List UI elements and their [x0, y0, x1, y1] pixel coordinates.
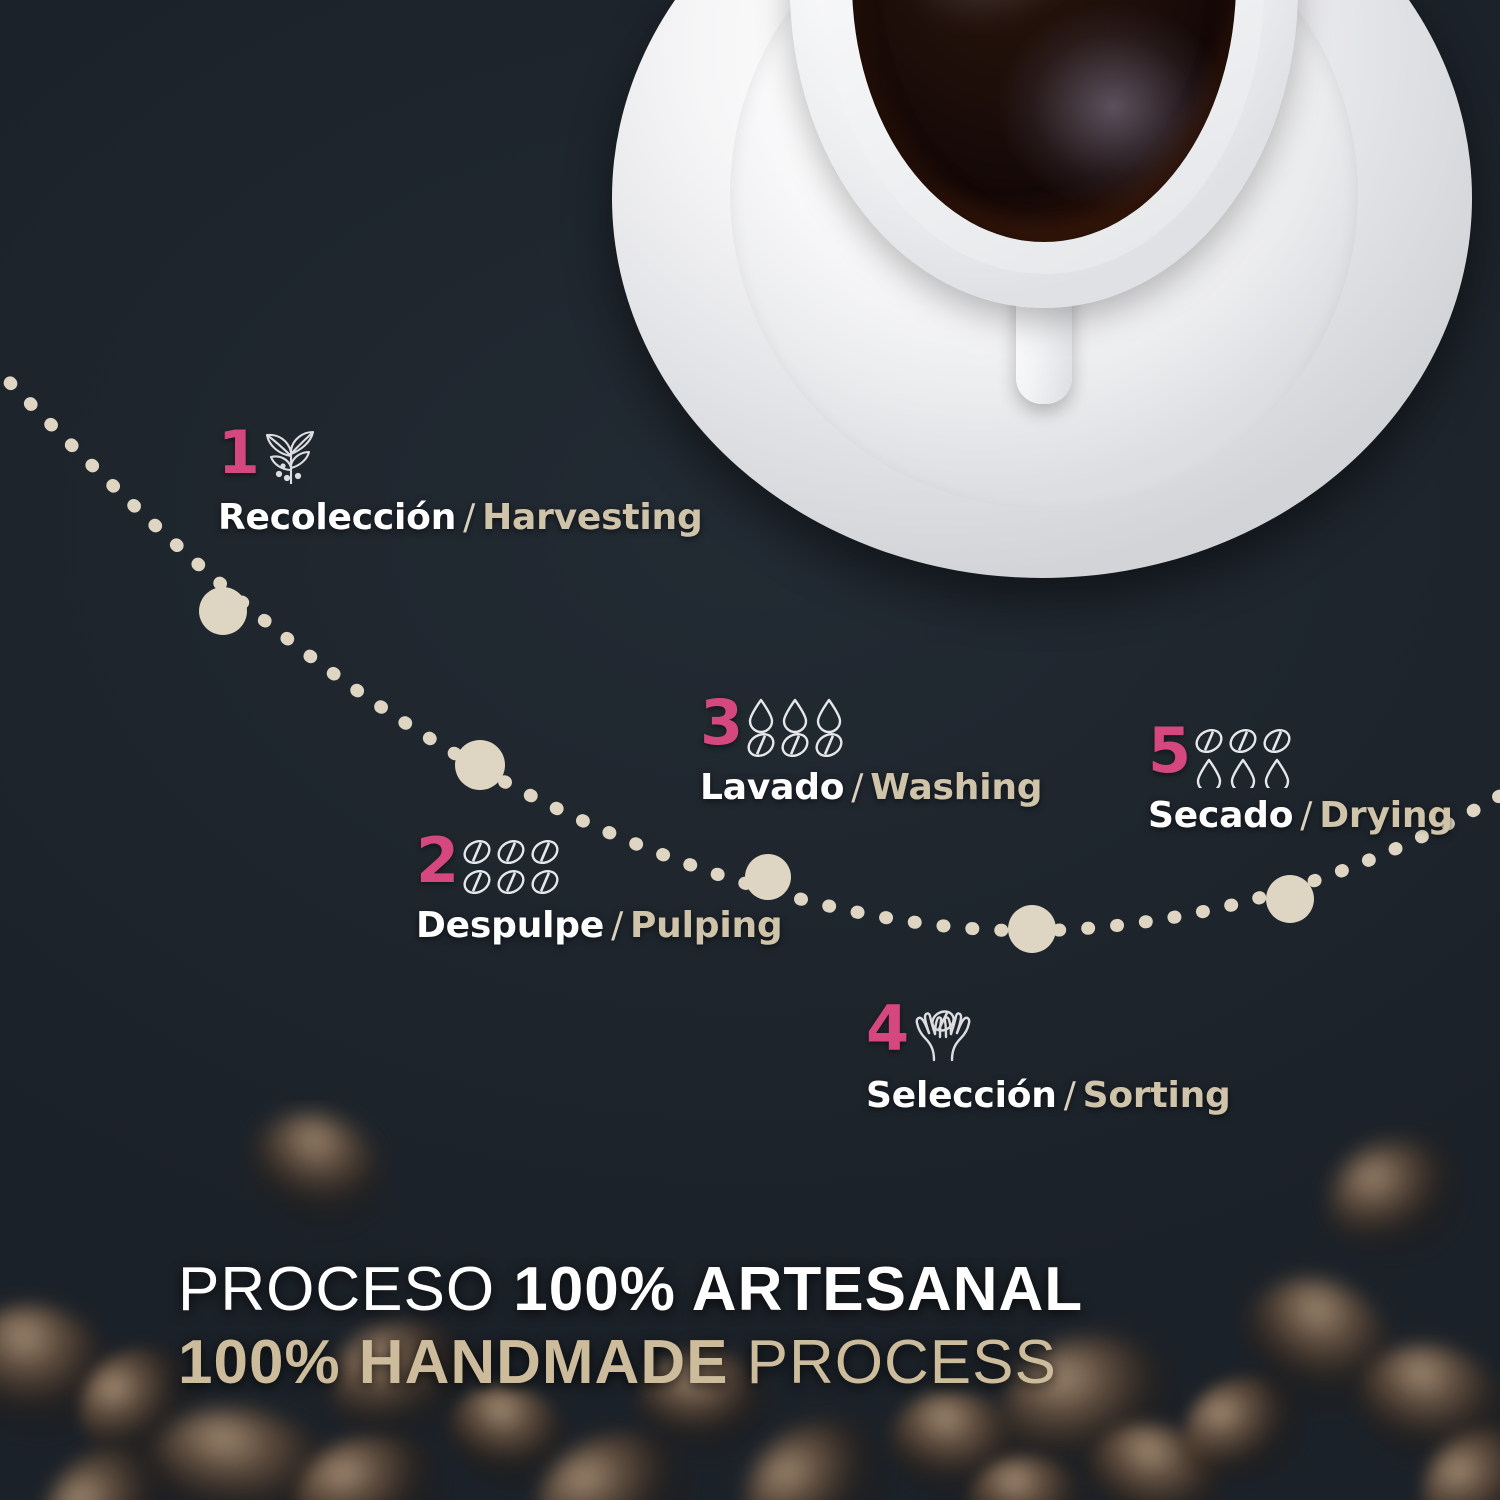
- step-1-separator: /: [463, 497, 475, 538]
- step-1-header: 1: [218, 426, 703, 495]
- process-step-3[interactable]: 3: [700, 694, 1042, 808]
- step-1-label: Recolección/Harvesting: [218, 497, 703, 538]
- process-step-1[interactable]: 1: [218, 426, 703, 538]
- step-5-header: 5: [1148, 722, 1453, 793]
- step-2-label-es: Despulpe: [416, 905, 604, 946]
- headline-process: PROCESS: [747, 1328, 1057, 1397]
- step-1-label-es: Recolección: [218, 497, 456, 538]
- beans-drying-drops-icon: [1192, 726, 1294, 793]
- headline-artesanal: 100% ARTESANAL: [513, 1255, 1083, 1324]
- step-2-label: Despulpe/Pulping: [416, 905, 782, 946]
- step-2-label-en: Pulping: [630, 905, 782, 946]
- step-3-separator: /: [851, 767, 863, 808]
- step-2-number: 2: [416, 832, 458, 889]
- step-2-separator: /: [611, 905, 623, 946]
- step-5-label: Secado/Drying: [1148, 795, 1453, 836]
- hands-holding-bean-icon: [910, 1004, 976, 1073]
- coffee-beans-icon: [460, 836, 562, 903]
- headline-line-english: 100% HANDMADE PROCESS: [178, 1331, 1358, 1394]
- step-4-header: 4: [866, 1000, 1231, 1073]
- process-step-2[interactable]: 2: [416, 832, 782, 946]
- process-step-4[interactable]: 4 Selección/Sorting: [866, 1000, 1231, 1116]
- step-5-label-en: Drying: [1319, 795, 1453, 836]
- step-1-number: 1: [218, 426, 259, 481]
- step-1-label-en: Harvesting: [482, 497, 702, 538]
- step-4-label: Selección/Sorting: [866, 1075, 1231, 1116]
- step-2-header: 2: [416, 832, 782, 903]
- step-3-header: 3: [700, 694, 1042, 765]
- headline-handmade: 100% HANDMADE: [178, 1328, 747, 1397]
- step-5-number: 5: [1148, 722, 1190, 779]
- path-node-1: [199, 587, 247, 635]
- headline-block: PROCESO 100% ARTESANAL 100% HANDMADE PRO…: [178, 1258, 1358, 1394]
- headline-proceso: PROCESO: [178, 1255, 513, 1324]
- step-3-label: Lavado/Washing: [700, 767, 1042, 808]
- path-node-5: [1266, 875, 1314, 923]
- step-5-label-es: Secado: [1148, 795, 1293, 836]
- step-4-number: 4: [866, 1000, 908, 1057]
- path-node-2: [455, 740, 505, 790]
- step-3-number: 3: [700, 694, 742, 751]
- coffee-branch-icon: [261, 430, 323, 495]
- headline-line-spanish: PROCESO 100% ARTESANAL: [178, 1258, 1358, 1321]
- step-3-label-es: Lavado: [700, 767, 844, 808]
- step-3-label-en: Washing: [870, 767, 1042, 808]
- step-5-separator: /: [1300, 795, 1312, 836]
- process-step-5[interactable]: 5: [1148, 722, 1453, 836]
- step-4-label-es: Selección: [866, 1075, 1057, 1116]
- step-4-label-en: Sorting: [1083, 1075, 1231, 1116]
- water-drops-beans-icon: [744, 698, 846, 765]
- step-4-separator: /: [1064, 1075, 1076, 1116]
- infographic-canvas: 1: [0, 0, 1500, 1500]
- path-node-4: [1008, 905, 1056, 953]
